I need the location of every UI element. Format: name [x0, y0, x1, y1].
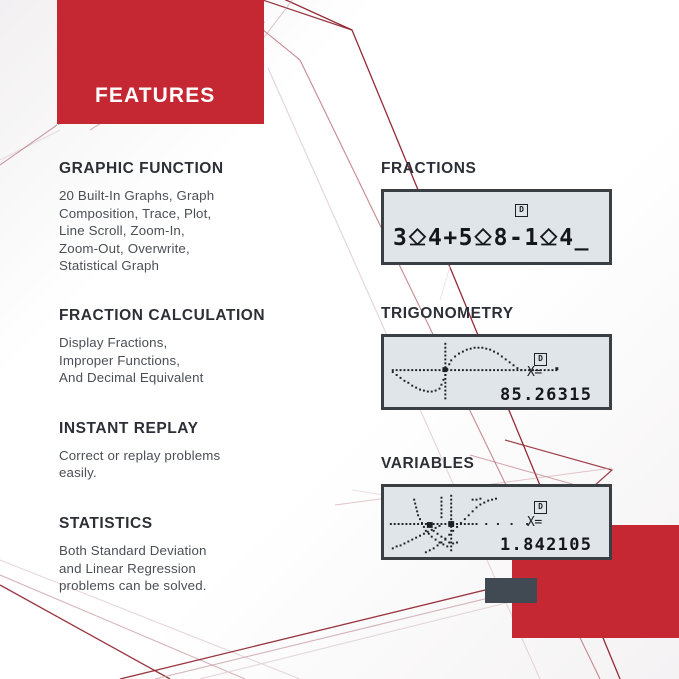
- features-badge-label: FEATURES: [95, 84, 215, 108]
- corner-slate-block: [485, 578, 537, 603]
- feature-block-trigonometry: TRIGONOMETRY: [381, 305, 612, 410]
- feature-body: Display Fractions, Improper Functions, A…: [59, 334, 329, 387]
- calculator-screen-fractions: D 3⎐4+5⎐8-1⎐4_: [381, 189, 612, 265]
- feature-block-variables: VARIABLES: [381, 455, 612, 560]
- feature-block-instant-replay: INSTANT REPLAY Correct or replay problem…: [59, 420, 329, 482]
- calculator-screen-variables: D X= 1.842105: [381, 484, 612, 560]
- calculator-screen-trigonometry: D X= 85.26315: [381, 334, 612, 410]
- feature-block-statistics: STATISTICS Both Standard Deviation and L…: [59, 515, 329, 595]
- feature-title: GRAPHIC FUNCTION: [59, 160, 329, 178]
- feature-title: INSTANT REPLAY: [59, 420, 329, 438]
- feature-poster: FEATURES GRAPHIC FUNCTION 20 Built-In Gr…: [0, 0, 679, 679]
- deg-mode-icon: D: [515, 204, 528, 217]
- left-feature-column: GRAPHIC FUNCTION 20 Built-In Graphs, Gra…: [59, 160, 329, 595]
- feature-body: Both Standard Deviation and Linear Regre…: [59, 542, 329, 595]
- feature-title: FRACTION CALCULATION: [59, 307, 329, 325]
- feature-block-graphic-function: GRAPHIC FUNCTION 20 Built-In Graphs, Gra…: [59, 160, 329, 275]
- feature-body: Correct or replay problems easily.: [59, 447, 329, 482]
- lcd-value: 1.842105: [500, 535, 592, 555]
- deg-mode-icon: D: [534, 501, 547, 514]
- feature-title: VARIABLES: [381, 455, 612, 473]
- lcd-expression: 3⎐4+5⎐8-1⎐4_: [393, 225, 590, 251]
- lcd-x-label: X=: [527, 515, 542, 530]
- lcd-x-label: X=: [527, 365, 542, 380]
- feature-block-fraction-calculation: FRACTION CALCULATION Display Fractions, …: [59, 307, 329, 387]
- lcd-value: 85.26315: [500, 385, 592, 405]
- feature-title: FRACTIONS: [381, 160, 612, 178]
- feature-body: 20 Built-In Graphs, Graph Composition, T…: [59, 187, 329, 275]
- feature-title: STATISTICS: [59, 515, 329, 533]
- features-badge: FEATURES: [57, 0, 264, 124]
- feature-title: TRIGONOMETRY: [381, 305, 612, 323]
- feature-block-fractions: FRACTIONS D 3⎐4+5⎐8-1⎐4_: [381, 160, 612, 265]
